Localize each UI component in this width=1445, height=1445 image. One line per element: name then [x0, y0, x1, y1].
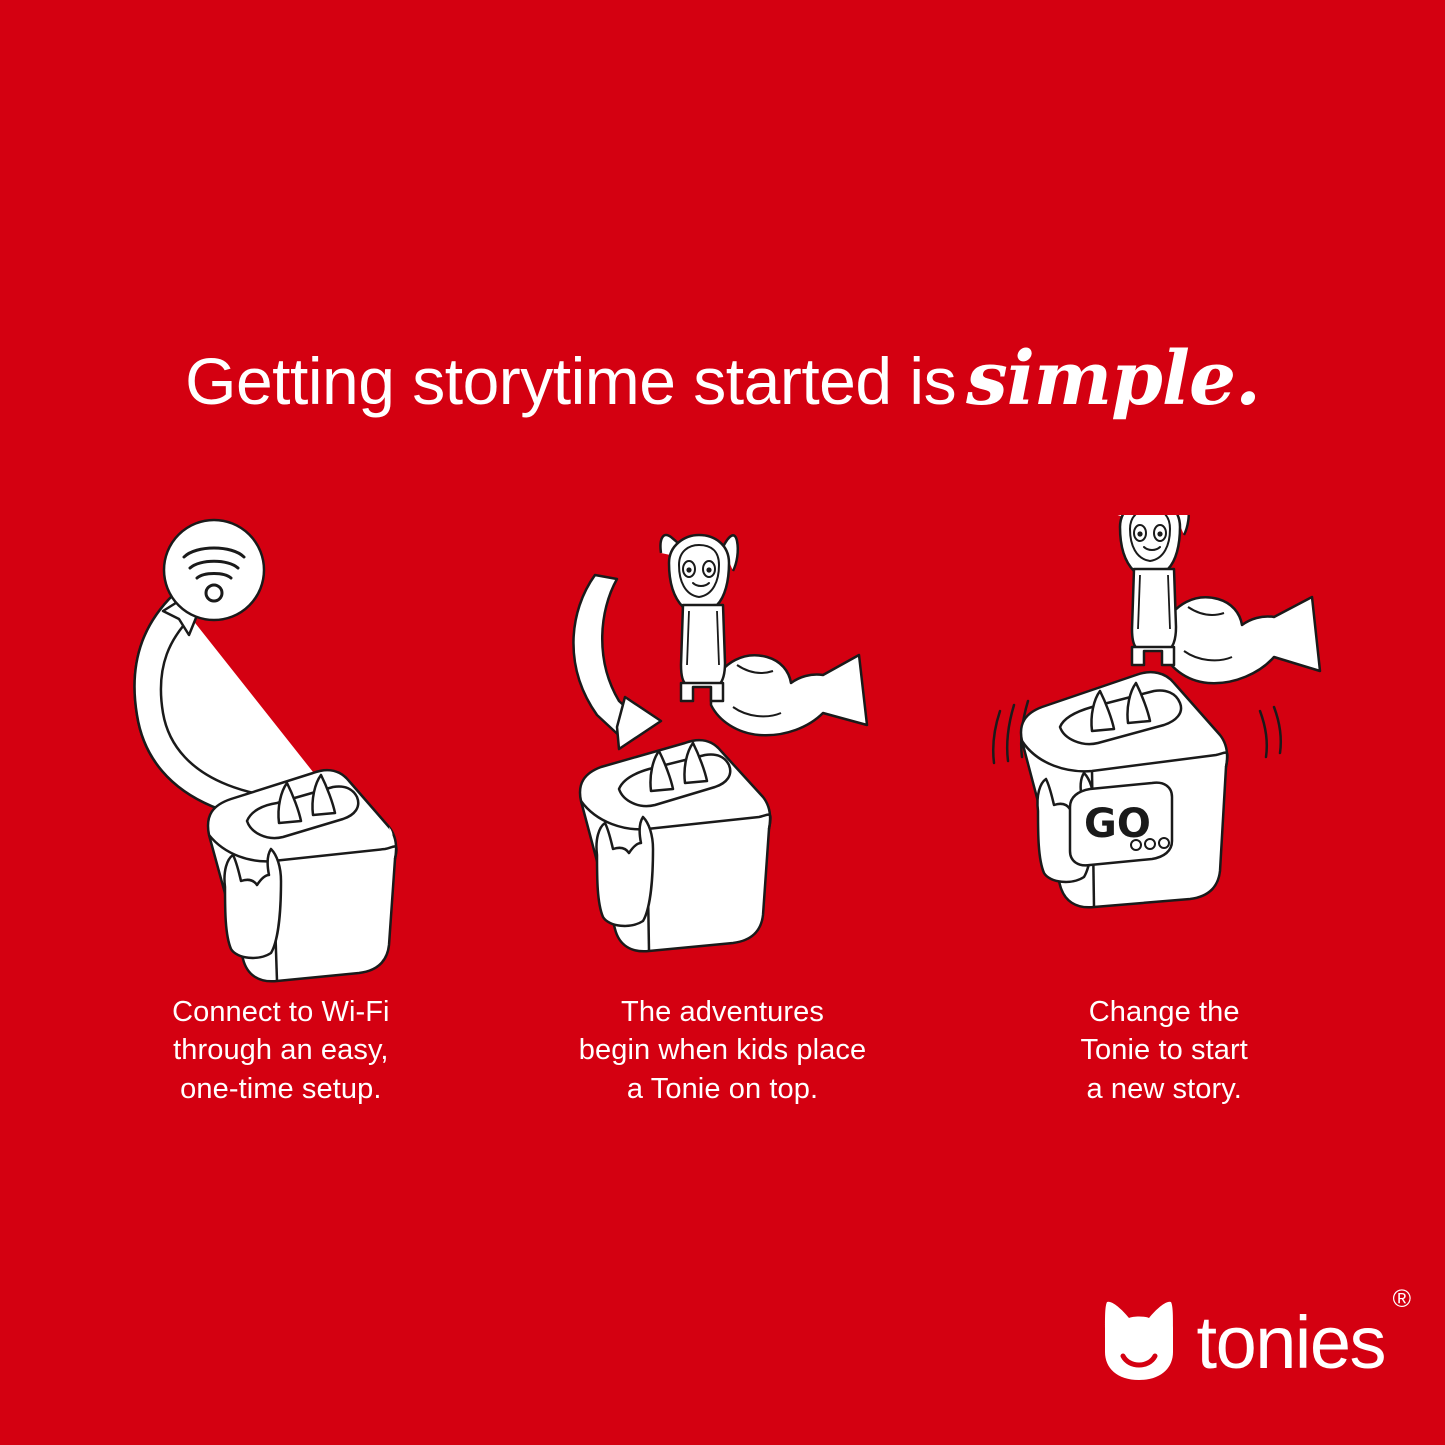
toniebox-icon: [208, 770, 397, 981]
headline-script-text: simple.: [966, 336, 1260, 422]
cat-head-icon: [1101, 1298, 1177, 1387]
logo-wordmark: tonies®: [1197, 1313, 1385, 1372]
caption-line: one-time setup.: [60, 1070, 502, 1108]
hand-icon: [1162, 597, 1320, 683]
tonies-logo: tonies®: [1101, 1298, 1385, 1387]
caption-line: through an easy,: [60, 1031, 502, 1069]
page-title: Getting storytime started issimple.: [0, 342, 1445, 416]
caption-line: a new story.: [943, 1070, 1385, 1108]
step-2-caption: The adventures begin when kids place a T…: [502, 993, 944, 1108]
poster-canvas: Getting storytime started issimple.: [0, 0, 1445, 1445]
wifi-icon: [164, 520, 264, 620]
logo-wordmark-text: tonies: [1197, 1301, 1385, 1384]
step-panel-connect-wifi: Connect to Wi-Fi through an easy, one-ti…: [60, 515, 502, 1135]
hand-icon: [711, 655, 867, 735]
caption-line: The adventures: [502, 993, 944, 1031]
caption-line: Connect to Wi-Fi: [60, 993, 502, 1031]
step-2-illustration: [502, 515, 944, 985]
step-1-caption: Connect to Wi-Fi through an easy, one-ti…: [60, 993, 502, 1108]
caption-line: begin when kids place: [502, 1031, 944, 1069]
step-1-illustration: [60, 515, 502, 985]
caption-line: a Tonie on top.: [502, 1070, 944, 1108]
step-3-caption: Change the Tonie to start a new story.: [943, 993, 1385, 1108]
caption-line: Change the: [943, 993, 1385, 1031]
toniebox-icon: GO: [1021, 672, 1228, 907]
speech-bubble-icon: GO: [1070, 783, 1172, 866]
steps-row: Connect to Wi-Fi through an easy, one-ti…: [60, 515, 1385, 1135]
toniebox-icon: [579, 740, 770, 951]
speech-bubble-text: GO: [1084, 801, 1151, 847]
curved-arrow-down-icon: [573, 575, 661, 749]
step-3-illustration: GO: [943, 515, 1385, 985]
caption-line: Tonie to start: [943, 1031, 1385, 1069]
step-panel-place-tonie: The adventures begin when kids place a T…: [502, 515, 944, 1135]
registered-trademark-icon: ®: [1393, 1289, 1411, 1309]
headline-plain-text: Getting storytime started is: [185, 344, 956, 418]
step-panel-change-tonie: GO Change the Tonie to start a new story…: [943, 515, 1385, 1135]
